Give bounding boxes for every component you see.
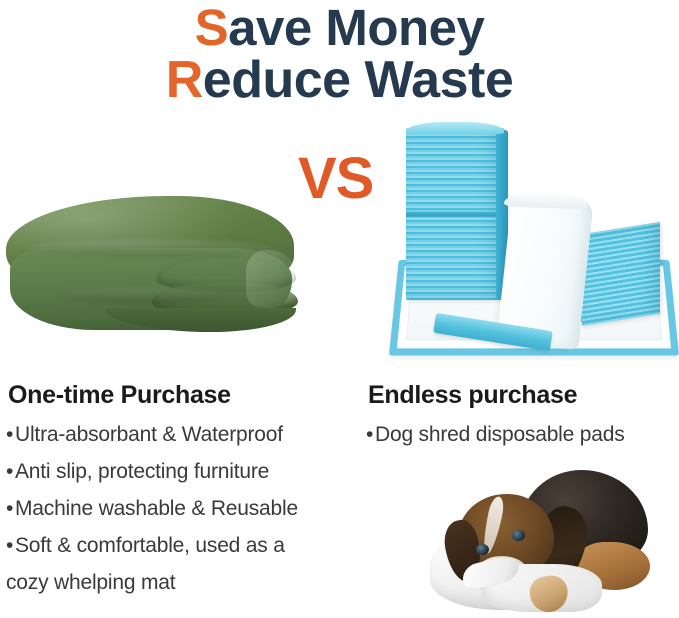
left-bullet-list: •Ultra-absorbant & Waterproof •Anti slip… bbox=[6, 416, 356, 564]
pad-open-sheet-top bbox=[504, 191, 589, 210]
list-item: •Machine washable & Reusable bbox=[6, 490, 356, 527]
list-item: •Soft & comfortable, used as a bbox=[6, 527, 356, 564]
list-item-label: Soft & comfortable, used as a bbox=[15, 534, 285, 557]
headline-line-2: Reduce Waste bbox=[0, 54, 679, 106]
pad-stack-tall-top bbox=[406, 122, 504, 134]
vs-badge: VS bbox=[298, 148, 373, 210]
list-item-label: Machine washable & Reusable bbox=[15, 497, 298, 520]
mat-crease-lower bbox=[60, 288, 230, 304]
left-column-heading: One-time Purchase bbox=[8, 380, 356, 410]
headline-rest-2: educe Waste bbox=[203, 51, 513, 109]
headline-accent-s: S bbox=[195, 0, 229, 56]
bullet-dot-icon: • bbox=[366, 416, 375, 453]
list-item: •Ultra-absorbant & Waterproof bbox=[6, 416, 356, 453]
mat-edge-highlight bbox=[246, 250, 298, 308]
pad-stack-side bbox=[582, 222, 660, 326]
list-item-label: Ultra-absorbant & Waterproof bbox=[15, 423, 283, 446]
left-column: One-time Purchase •Ultra-absorbant & Wat… bbox=[6, 380, 356, 601]
right-bullet-list: •Dog shred disposable pads bbox=[366, 416, 676, 453]
left-bullet-continuation: cozy whelping mat bbox=[6, 564, 356, 601]
right-column-heading: Endless purchase bbox=[368, 380, 676, 410]
puppy-chewing-pad-image bbox=[424, 456, 672, 614]
bullet-dot-icon: • bbox=[6, 527, 15, 564]
disposable-pads-image bbox=[386, 126, 676, 362]
list-item-label: Anti slip, protecting furniture bbox=[15, 460, 269, 483]
puppy-eye-right bbox=[512, 530, 525, 541]
green-mat-image bbox=[6, 196, 294, 332]
bullet-dot-icon: • bbox=[6, 416, 15, 453]
list-item: •Dog shred disposable pads bbox=[366, 416, 676, 453]
bullet-dot-icon: • bbox=[6, 490, 15, 527]
right-column: Endless purchase •Dog shred disposable p… bbox=[366, 380, 676, 453]
pad-stack-tall-band bbox=[406, 212, 504, 217]
headline-line-1: Save Money bbox=[0, 2, 679, 54]
headline-rest-1: ave Money bbox=[228, 0, 484, 56]
puppy-eye-left bbox=[476, 544, 489, 555]
list-item: •Anti slip, protecting furniture bbox=[6, 453, 356, 490]
headline: Save Money Reduce Waste bbox=[0, 2, 679, 106]
bullet-dot-icon: • bbox=[6, 453, 15, 490]
headline-accent-r: R bbox=[166, 51, 203, 109]
list-item-label: Dog shred disposable pads bbox=[375, 423, 625, 446]
